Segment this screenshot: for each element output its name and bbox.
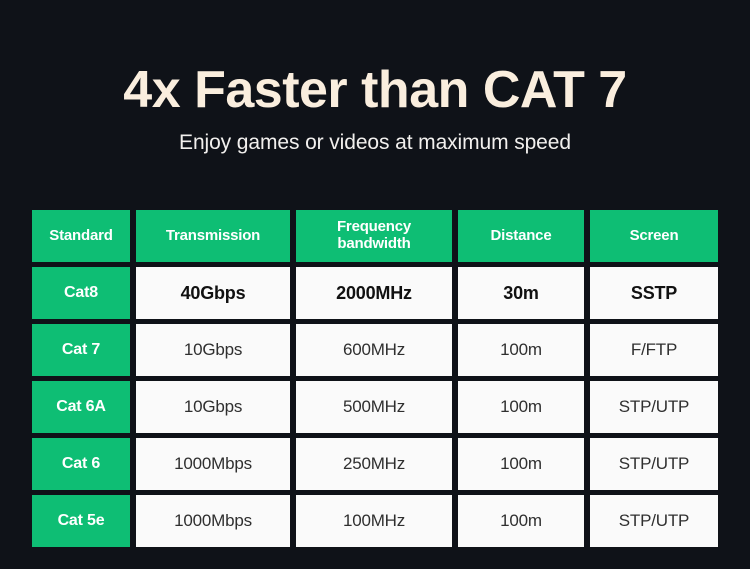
table-cell-distance: 30m bbox=[458, 267, 584, 319]
comparison-table: StandardTransmissionFrequency bandwidthD… bbox=[32, 210, 718, 547]
row-standard-label: Cat 6 bbox=[32, 438, 130, 490]
column-header-0: Standard bbox=[32, 210, 130, 262]
table-cell-distance: 100m bbox=[458, 438, 584, 490]
column-header-label: Standard bbox=[49, 228, 112, 245]
table-cell-frequency_bandwidth: 600MHz bbox=[296, 324, 452, 376]
column-header-1: Transmission bbox=[136, 210, 290, 262]
poster-root: 4x Faster than CAT 7 Enjoy games or vide… bbox=[0, 0, 750, 569]
table-cell-screen: STP/UTP bbox=[590, 438, 718, 490]
table-row: Cat 6A10Gbps500MHz100mSTP/UTP bbox=[32, 381, 718, 433]
row-standard-label: Cat 7 bbox=[32, 324, 130, 376]
table-cell-frequency_bandwidth: 2000MHz bbox=[296, 267, 452, 319]
table-cell-distance: 100m bbox=[458, 495, 584, 547]
column-header-4: Screen bbox=[590, 210, 718, 262]
table-row: Cat 5e1000Mbps100MHz100mSTP/UTP bbox=[32, 495, 718, 547]
row-standard-label: Cat 5e bbox=[32, 495, 130, 547]
table-cell-screen: SSTP bbox=[590, 267, 718, 319]
heading-block: 4x Faster than CAT 7 Enjoy games or vide… bbox=[0, 0, 750, 155]
table-row: Cat840Gbps2000MHz30mSSTP bbox=[32, 267, 718, 319]
row-standard-label: Cat8 bbox=[32, 267, 130, 319]
column-header-label: Distance bbox=[491, 228, 552, 245]
column-header-2: Frequency bandwidth bbox=[296, 210, 452, 262]
table-cell-transmission: 10Gbps bbox=[136, 324, 290, 376]
table-cell-transmission: 1000Mbps bbox=[136, 438, 290, 490]
table-cell-distance: 100m bbox=[458, 324, 584, 376]
table-cell-frequency_bandwidth: 500MHz bbox=[296, 381, 452, 433]
page-title: 4x Faster than CAT 7 bbox=[0, 62, 750, 118]
column-header-3: Distance bbox=[458, 210, 584, 262]
table-cell-screen: F/FTP bbox=[590, 324, 718, 376]
column-header-label: Screen bbox=[630, 228, 679, 245]
table-cell-transmission: 40Gbps bbox=[136, 267, 290, 319]
table-cell-frequency_bandwidth: 250MHz bbox=[296, 438, 452, 490]
table-cell-frequency_bandwidth: 100MHz bbox=[296, 495, 452, 547]
table-cell-distance: 100m bbox=[458, 381, 584, 433]
table-row: Cat 61000Mbps250MHz100mSTP/UTP bbox=[32, 438, 718, 490]
table-cell-transmission: 10Gbps bbox=[136, 381, 290, 433]
table-header-row: StandardTransmissionFrequency bandwidthD… bbox=[32, 210, 718, 262]
table-cell-screen: STP/UTP bbox=[590, 495, 718, 547]
row-standard-label: Cat 6A bbox=[32, 381, 130, 433]
table-cell-screen: STP/UTP bbox=[590, 381, 718, 433]
column-header-label: Frequency bandwidth bbox=[337, 219, 411, 253]
page-subtitle: Enjoy games or videos at maximum speed bbox=[0, 130, 750, 155]
table-row: Cat 710Gbps600MHz100mF/FTP bbox=[32, 324, 718, 376]
table-cell-transmission: 1000Mbps bbox=[136, 495, 290, 547]
column-header-label: Transmission bbox=[166, 228, 260, 245]
